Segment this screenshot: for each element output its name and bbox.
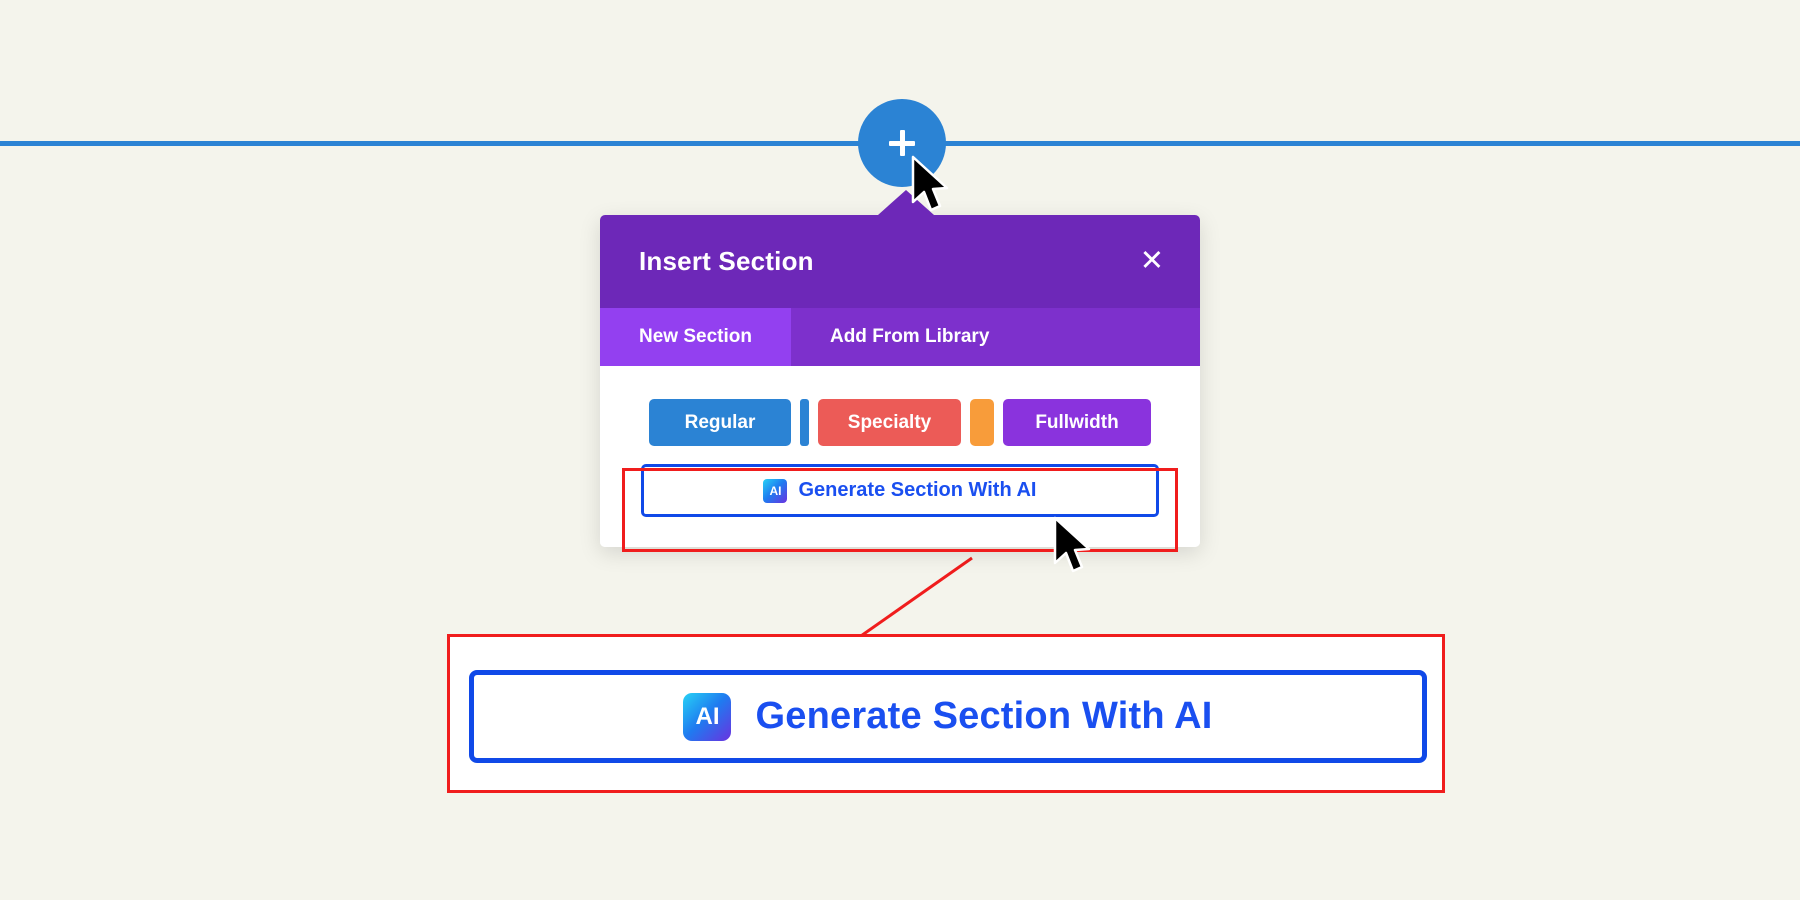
modal-header: Insert Section ✕ [600, 215, 1200, 308]
generate-ai-button-label: Generate Section With AI [798, 479, 1036, 502]
generate-ai-button-label-large: Generate Section With AI [755, 695, 1212, 738]
regular-section-button[interactable]: Regular [649, 399, 791, 446]
modal-caret [878, 190, 934, 215]
close-icon[interactable]: ✕ [1140, 247, 1164, 276]
regular-section-edge-sliver[interactable] [800, 399, 809, 446]
specialty-section-edge-sliver[interactable] [970, 399, 994, 446]
plus-icon-vertical [900, 130, 905, 156]
tab-add-from-library[interactable]: Add From Library [791, 308, 1028, 366]
generate-section-with-ai-button[interactable]: AI Generate Section With AI [641, 464, 1159, 517]
generate-ai-button-wrap: AI Generate Section With AI [600, 446, 1200, 517]
ai-badge-icon-large: AI [683, 693, 731, 741]
modal-tab-bar: New Section Add From Library [600, 308, 1200, 366]
specialty-section-button[interactable]: Specialty [818, 399, 961, 446]
section-type-button-row: Regular Specialty Fullwidth [600, 399, 1200, 446]
tab-new-section[interactable]: New Section [600, 308, 791, 366]
builder-canvas: Insert Section ✕ New Section Add From Li… [0, 0, 1800, 900]
ai-badge-icon: AI [763, 479, 787, 503]
add-section-plus-button[interactable] [858, 99, 946, 187]
zoom-callout-annotation: AI Generate Section With AI [447, 634, 1445, 793]
page-title: Insert Section [639, 246, 814, 277]
callout-connector-line [850, 556, 980, 641]
fullwidth-section-button[interactable]: Fullwidth [1003, 399, 1151, 446]
modal-body: Regular Specialty Fullwidth AI Generate … [600, 366, 1200, 547]
generate-section-with-ai-button-zoomed[interactable]: AI Generate Section With AI [469, 670, 1427, 763]
insert-section-modal: Insert Section ✕ New Section Add From Li… [600, 215, 1200, 547]
